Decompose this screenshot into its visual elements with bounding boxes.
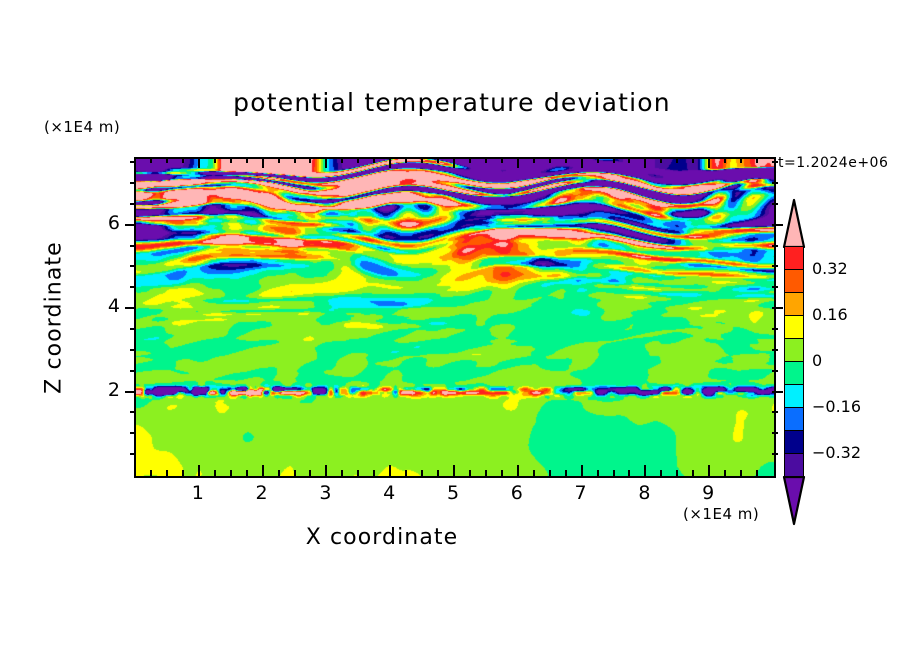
x-axis-title: X coordinate	[0, 525, 764, 550]
colorbar-extend-high-cap	[782, 198, 806, 248]
y-axis-tick-right	[772, 265, 778, 267]
x-axis-tick	[373, 470, 375, 476]
x-axis-tick	[437, 470, 439, 476]
x-axis-tick	[246, 470, 248, 476]
x-axis-tick	[485, 470, 487, 476]
x-axis-tick	[740, 470, 742, 476]
colorbar	[782, 198, 808, 528]
x-axis-tick	[644, 465, 646, 476]
x-axis-tick	[198, 465, 200, 476]
x-axis-tick	[405, 470, 407, 476]
y-axis-tick	[125, 307, 136, 309]
x-axis-tick	[501, 470, 503, 476]
x-axis-tick	[166, 470, 168, 476]
x-axis-tick	[357, 470, 359, 476]
x-axis-tick-top	[517, 157, 519, 168]
x-axis-tick-top	[628, 157, 630, 163]
y-axis-tick-right	[772, 203, 778, 205]
x-axis-tick-top	[150, 157, 152, 163]
time-annotation: t=1.2024e+06	[778, 155, 888, 171]
y-axis-units-label: (×1E4 m)	[44, 118, 120, 136]
colorbar-band	[784, 246, 804, 271]
x-axis-tick	[533, 470, 535, 476]
x-axis-tick-top	[501, 157, 503, 163]
x-axis-tick-top	[437, 157, 439, 163]
y-axis-tick	[130, 265, 136, 267]
x-axis-tick	[708, 465, 710, 476]
colorbar-band	[784, 292, 804, 317]
x-axis-tick	[549, 470, 551, 476]
x-axis-tick	[262, 465, 264, 476]
x-axis-tick	[341, 470, 343, 476]
x-axis-tick-top	[485, 157, 487, 163]
y-axis-tick-label: 6	[90, 212, 120, 234]
x-axis-tick-top	[597, 157, 599, 163]
x-axis-tick-label: 7	[561, 482, 601, 504]
y-axis-tick-right	[772, 245, 778, 247]
y-axis-tick-right	[772, 182, 778, 184]
y-axis-tick	[125, 224, 136, 226]
colorbar-band	[784, 430, 804, 455]
x-axis-tick	[628, 470, 630, 476]
contour-plot-area	[134, 157, 776, 478]
x-axis-tick-top	[214, 157, 216, 163]
y-axis-tick	[125, 391, 136, 393]
x-axis-tick-label: 1	[178, 482, 218, 504]
y-axis-tick-right	[772, 411, 778, 413]
y-axis-tick-right	[772, 370, 778, 372]
x-axis-tick-top	[724, 157, 726, 163]
y-axis-tick-right	[772, 349, 778, 351]
x-axis-tick-top	[325, 157, 327, 168]
x-axis-tick-top	[230, 157, 232, 163]
colorbar-band	[784, 384, 804, 409]
x-axis-tick	[150, 470, 152, 476]
y-axis-tick	[130, 245, 136, 247]
x-axis-tick	[214, 470, 216, 476]
x-axis-tick-top	[660, 157, 662, 163]
x-axis-tick	[676, 470, 678, 476]
colorbar-band	[784, 338, 804, 363]
x-axis-tick-top	[565, 157, 567, 163]
y-axis-tick	[130, 411, 136, 413]
x-axis-tick	[597, 470, 599, 476]
x-axis-tick	[581, 465, 583, 476]
x-axis-tick-top	[262, 157, 264, 168]
x-axis-tick-top	[549, 157, 551, 163]
x-axis-tick-label: 3	[305, 482, 345, 504]
colorbar-band	[784, 407, 804, 432]
y-axis-tick	[130, 203, 136, 205]
y-axis-tick-label: 4	[90, 295, 120, 317]
x-axis-tick	[469, 470, 471, 476]
x-axis-tick-top	[294, 157, 296, 163]
y-axis-tick	[130, 370, 136, 372]
x-axis-tick-top	[469, 157, 471, 163]
x-axis-tick-top	[756, 157, 758, 163]
x-axis-tick	[660, 470, 662, 476]
y-axis-tick-right	[772, 286, 778, 288]
x-axis-tick	[421, 470, 423, 476]
x-axis-tick	[517, 465, 519, 476]
x-axis-tick-label: 2	[242, 482, 282, 504]
x-axis-tick-top	[581, 157, 583, 168]
x-axis-tick-top	[421, 157, 423, 163]
contour-figure: potential temperature deviation (×1E4 m)…	[0, 0, 904, 654]
x-axis-tick	[294, 470, 296, 476]
y-axis-tick-right	[772, 328, 778, 330]
x-axis-tick	[756, 470, 758, 476]
x-axis-tick	[565, 470, 567, 476]
colorbar-tick-label: 0.32	[812, 259, 848, 278]
y-axis-tick	[130, 286, 136, 288]
y-axis-tick	[130, 453, 136, 455]
colorbar-tick-label: 0.16	[812, 305, 848, 324]
x-axis-tick	[309, 470, 311, 476]
y-axis-tick-right	[772, 432, 778, 434]
y-axis-tick-right	[772, 161, 778, 163]
y-axis-tick	[130, 161, 136, 163]
x-axis-tick-top	[453, 157, 455, 168]
x-axis-tick	[453, 465, 455, 476]
y-axis-tick	[130, 328, 136, 330]
x-axis-tick-top	[278, 157, 280, 163]
y-axis-tick-label: 2	[90, 379, 120, 401]
colorbar-band	[784, 315, 804, 340]
x-axis-tick-label: 8	[624, 482, 664, 504]
x-axis-tick-top	[166, 157, 168, 163]
x-axis-tick	[724, 470, 726, 476]
x-axis-tick-top	[676, 157, 678, 163]
x-axis-tick-top	[357, 157, 359, 163]
x-axis-tick-top	[613, 157, 615, 163]
x-axis-tick-top	[389, 157, 391, 168]
x-axis-tick	[230, 470, 232, 476]
colorbar-tick-label: −0.32	[812, 443, 861, 462]
x-axis-tick-label: 6	[497, 482, 537, 504]
x-axis-tick	[692, 470, 694, 476]
x-axis-tick-top	[373, 157, 375, 163]
x-axis-tick-top	[692, 157, 694, 163]
x-axis-tick-top	[246, 157, 248, 163]
y-axis-tick	[130, 432, 136, 434]
x-axis-tick	[325, 465, 327, 476]
colorbar-band	[784, 453, 804, 478]
colorbar-band	[784, 269, 804, 294]
y-axis-tick-right	[772, 453, 778, 455]
y-axis-tick	[130, 349, 136, 351]
page-title: potential temperature deviation	[0, 88, 904, 117]
x-axis-tick-top	[405, 157, 407, 163]
contour-field	[136, 159, 774, 476]
colorbar-extend-low-cap	[782, 476, 806, 526]
x-axis-tick-top	[309, 157, 311, 163]
colorbar-tick-label: 0	[812, 351, 822, 370]
colorbar-band	[784, 361, 804, 386]
x-axis-tick-top	[708, 157, 710, 168]
x-axis-units-label: (×1E4 m)	[683, 505, 759, 523]
x-axis-tick-top	[533, 157, 535, 163]
x-axis-tick	[613, 470, 615, 476]
y-axis-tick	[130, 182, 136, 184]
colorbar-tick-label: −0.16	[812, 397, 861, 416]
x-axis-tick	[389, 465, 391, 476]
x-axis-tick	[278, 470, 280, 476]
x-axis-tick-top	[341, 157, 343, 163]
x-axis-tick-top	[644, 157, 646, 168]
x-axis-tick-top	[740, 157, 742, 163]
x-axis-tick-label: 4	[369, 482, 409, 504]
x-axis-tick-label: 9	[688, 482, 728, 504]
x-axis-tick	[182, 470, 184, 476]
y-axis-title: Z coordinate	[42, 218, 67, 418]
x-axis-tick-top	[198, 157, 200, 168]
x-axis-tick-label: 5	[433, 482, 473, 504]
x-axis-tick-top	[182, 157, 184, 163]
